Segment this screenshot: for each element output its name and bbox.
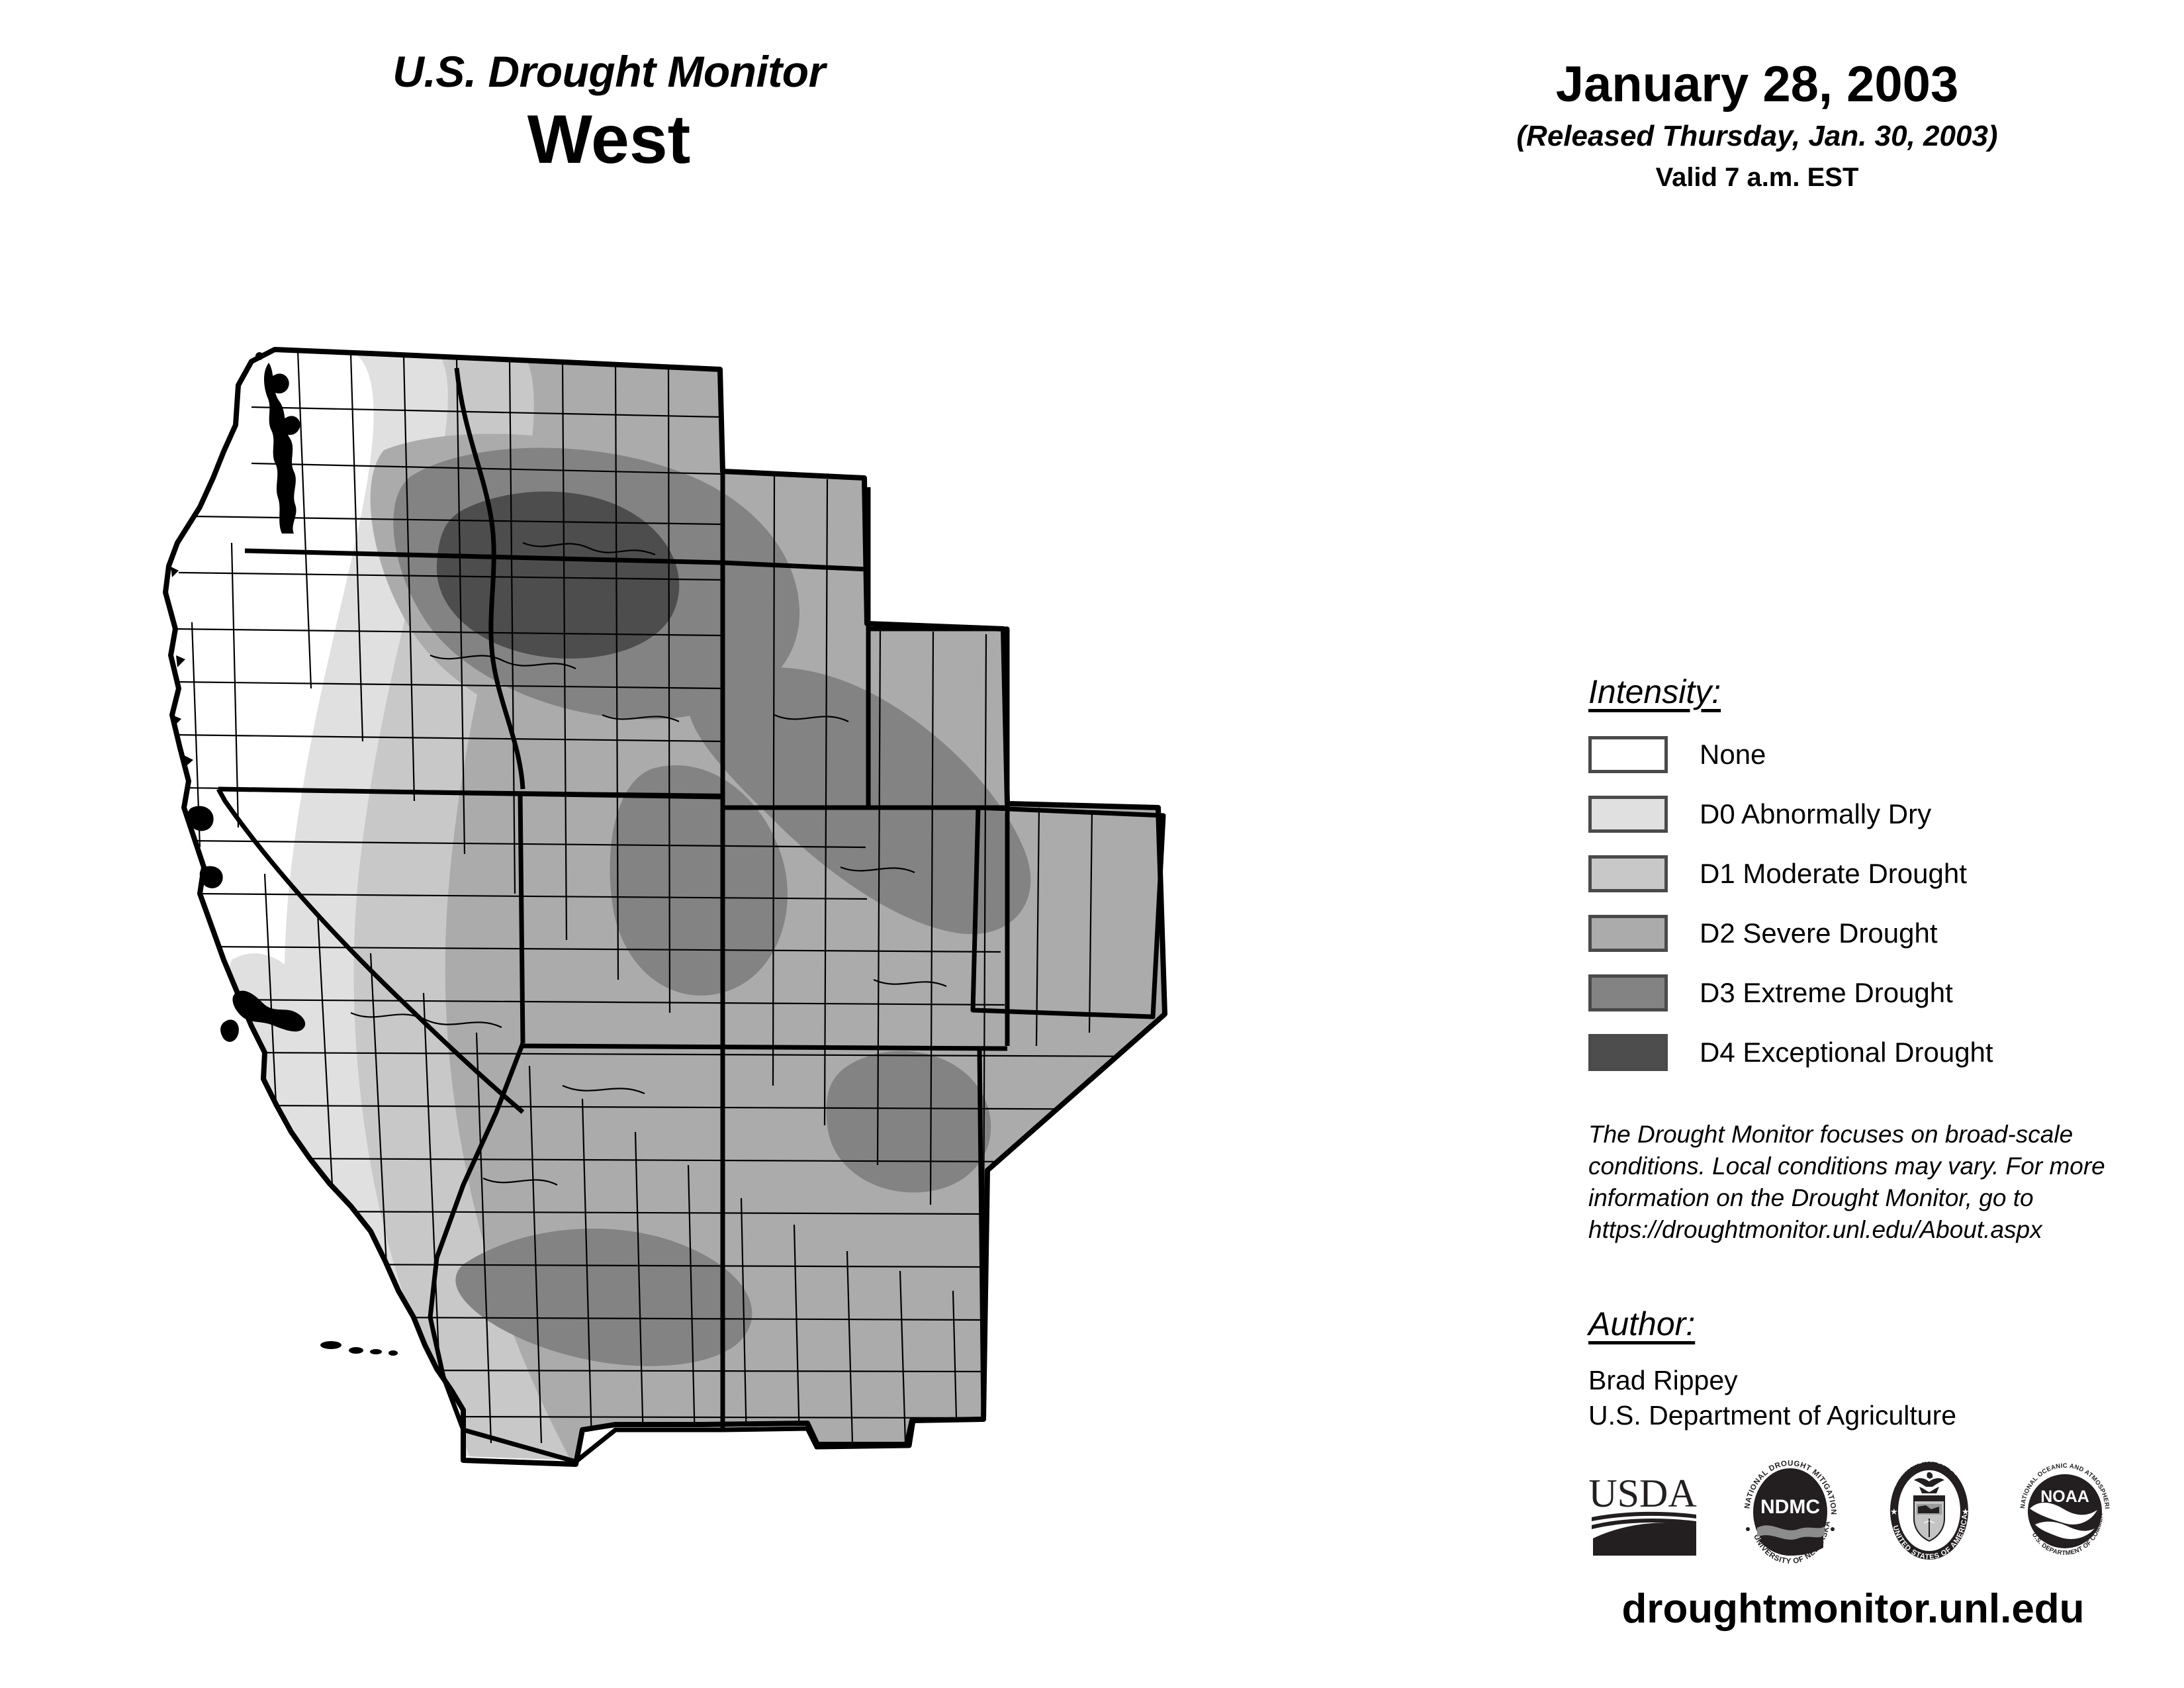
valid-time: Valid 7 a.m. EST (1423, 164, 2091, 191)
disclaimer-line-3: information on the Drought Monitor, go t… (1588, 1182, 2124, 1214)
legend-title: Intensity: (1588, 675, 2105, 708)
ndmc-logo[interactable]: NATIONAL DROUGHT MITIGATION CENTER UNIVE… (1737, 1456, 1843, 1569)
disclaimer-line-2: conditions. Local conditions may vary. F… (1588, 1150, 2124, 1182)
legend-swatch-none (1588, 736, 1668, 773)
header-right-block: January 28, 2003 (Released Thursday, Jan… (1423, 60, 2091, 191)
legend-item-d2[interactable]: D2 Severe Drought (1588, 911, 2105, 956)
legend-label-d0: D0 Abnormally Dry (1700, 800, 1931, 828)
usda-logo-text: USDA (1588, 1472, 1696, 1515)
intensity-legend: Intensity: None D0 Abnormally Dry D1 Mod… (1588, 675, 2105, 1090)
usda-logo[interactable]: USDA (1585, 1462, 1701, 1564)
region-title: West (218, 104, 999, 176)
noaa-logo-text: NOAA (2040, 1487, 2089, 1506)
commerce-star-left-icon: ★ (1890, 1507, 1898, 1517)
author-affiliation: U.S. Department of Agriculture (1588, 1398, 2118, 1433)
commerce-star-right-icon: ★ (1962, 1507, 1970, 1517)
legend-item-none[interactable]: None (1588, 732, 2105, 777)
legend-item-d3[interactable]: D3 Extreme Drought (1588, 970, 2105, 1015)
legend-label-d1: D1 Moderate Drought (1700, 860, 1967, 888)
legend-item-d0[interactable]: D0 Abnormally Dry (1588, 792, 2105, 837)
legend-swatch-d2 (1588, 915, 1668, 952)
legend-label-none: None (1700, 741, 1766, 769)
legend-swatch-d3 (1588, 974, 1668, 1011)
legend-item-d4[interactable]: D4 Exceptional Drought (1588, 1030, 2105, 1075)
logo-row: USDA NATIONAL DROUGHT MITIGATION CENTER … (1585, 1450, 2115, 1575)
author-heading: Author: (1588, 1307, 2118, 1340)
disclaimer-link[interactable]: https://droughtmonitor.unl.edu/About.asp… (1588, 1214, 2124, 1246)
disclaimer-line-1: The Drought Monitor focuses on broad-sca… (1588, 1119, 2124, 1150)
legend-item-d1[interactable]: D1 Moderate Drought (1588, 851, 2105, 896)
drought-map-svg (152, 344, 1430, 1642)
legend-label-d2: D2 Severe Drought (1700, 919, 1938, 947)
legend-label-d3: D3 Extreme Drought (1700, 979, 1953, 1007)
disclaimer-text: The Drought Monitor focuses on broad-sca… (1588, 1119, 2124, 1246)
legend-swatch-d4 (1588, 1034, 1668, 1071)
legend-swatch-d1 (1588, 855, 1668, 892)
ndmc-logo-text: NDMC (1760, 1496, 1820, 1518)
drought-map[interactable] (152, 344, 1430, 1642)
author-block: Author: Brad Rippey U.S. Department of A… (1588, 1307, 2118, 1434)
valid-date: January 28, 2003 (1423, 60, 2091, 110)
legend-label-d4: D4 Exceptional Drought (1700, 1039, 1993, 1066)
commerce-seal-logo[interactable]: DEPARTMENT OF COMMERCE UNITED STATES OF … (1880, 1456, 1979, 1569)
author-name: Brad Rippey (1588, 1363, 2118, 1398)
release-date: (Released Thursday, Jan. 30, 2003) (1423, 122, 2091, 151)
noaa-logo[interactable]: NATIONAL OCEANIC AND ATMOSPHERIC ADMINIS… (2015, 1458, 2115, 1568)
header-left-block: U.S. Drought Monitor West (218, 50, 999, 176)
footer-url[interactable]: droughtmonitor.unl.edu (1549, 1589, 2158, 1630)
legend-swatch-d0 (1588, 796, 1668, 833)
page-title: U.S. Drought Monitor (218, 50, 999, 93)
